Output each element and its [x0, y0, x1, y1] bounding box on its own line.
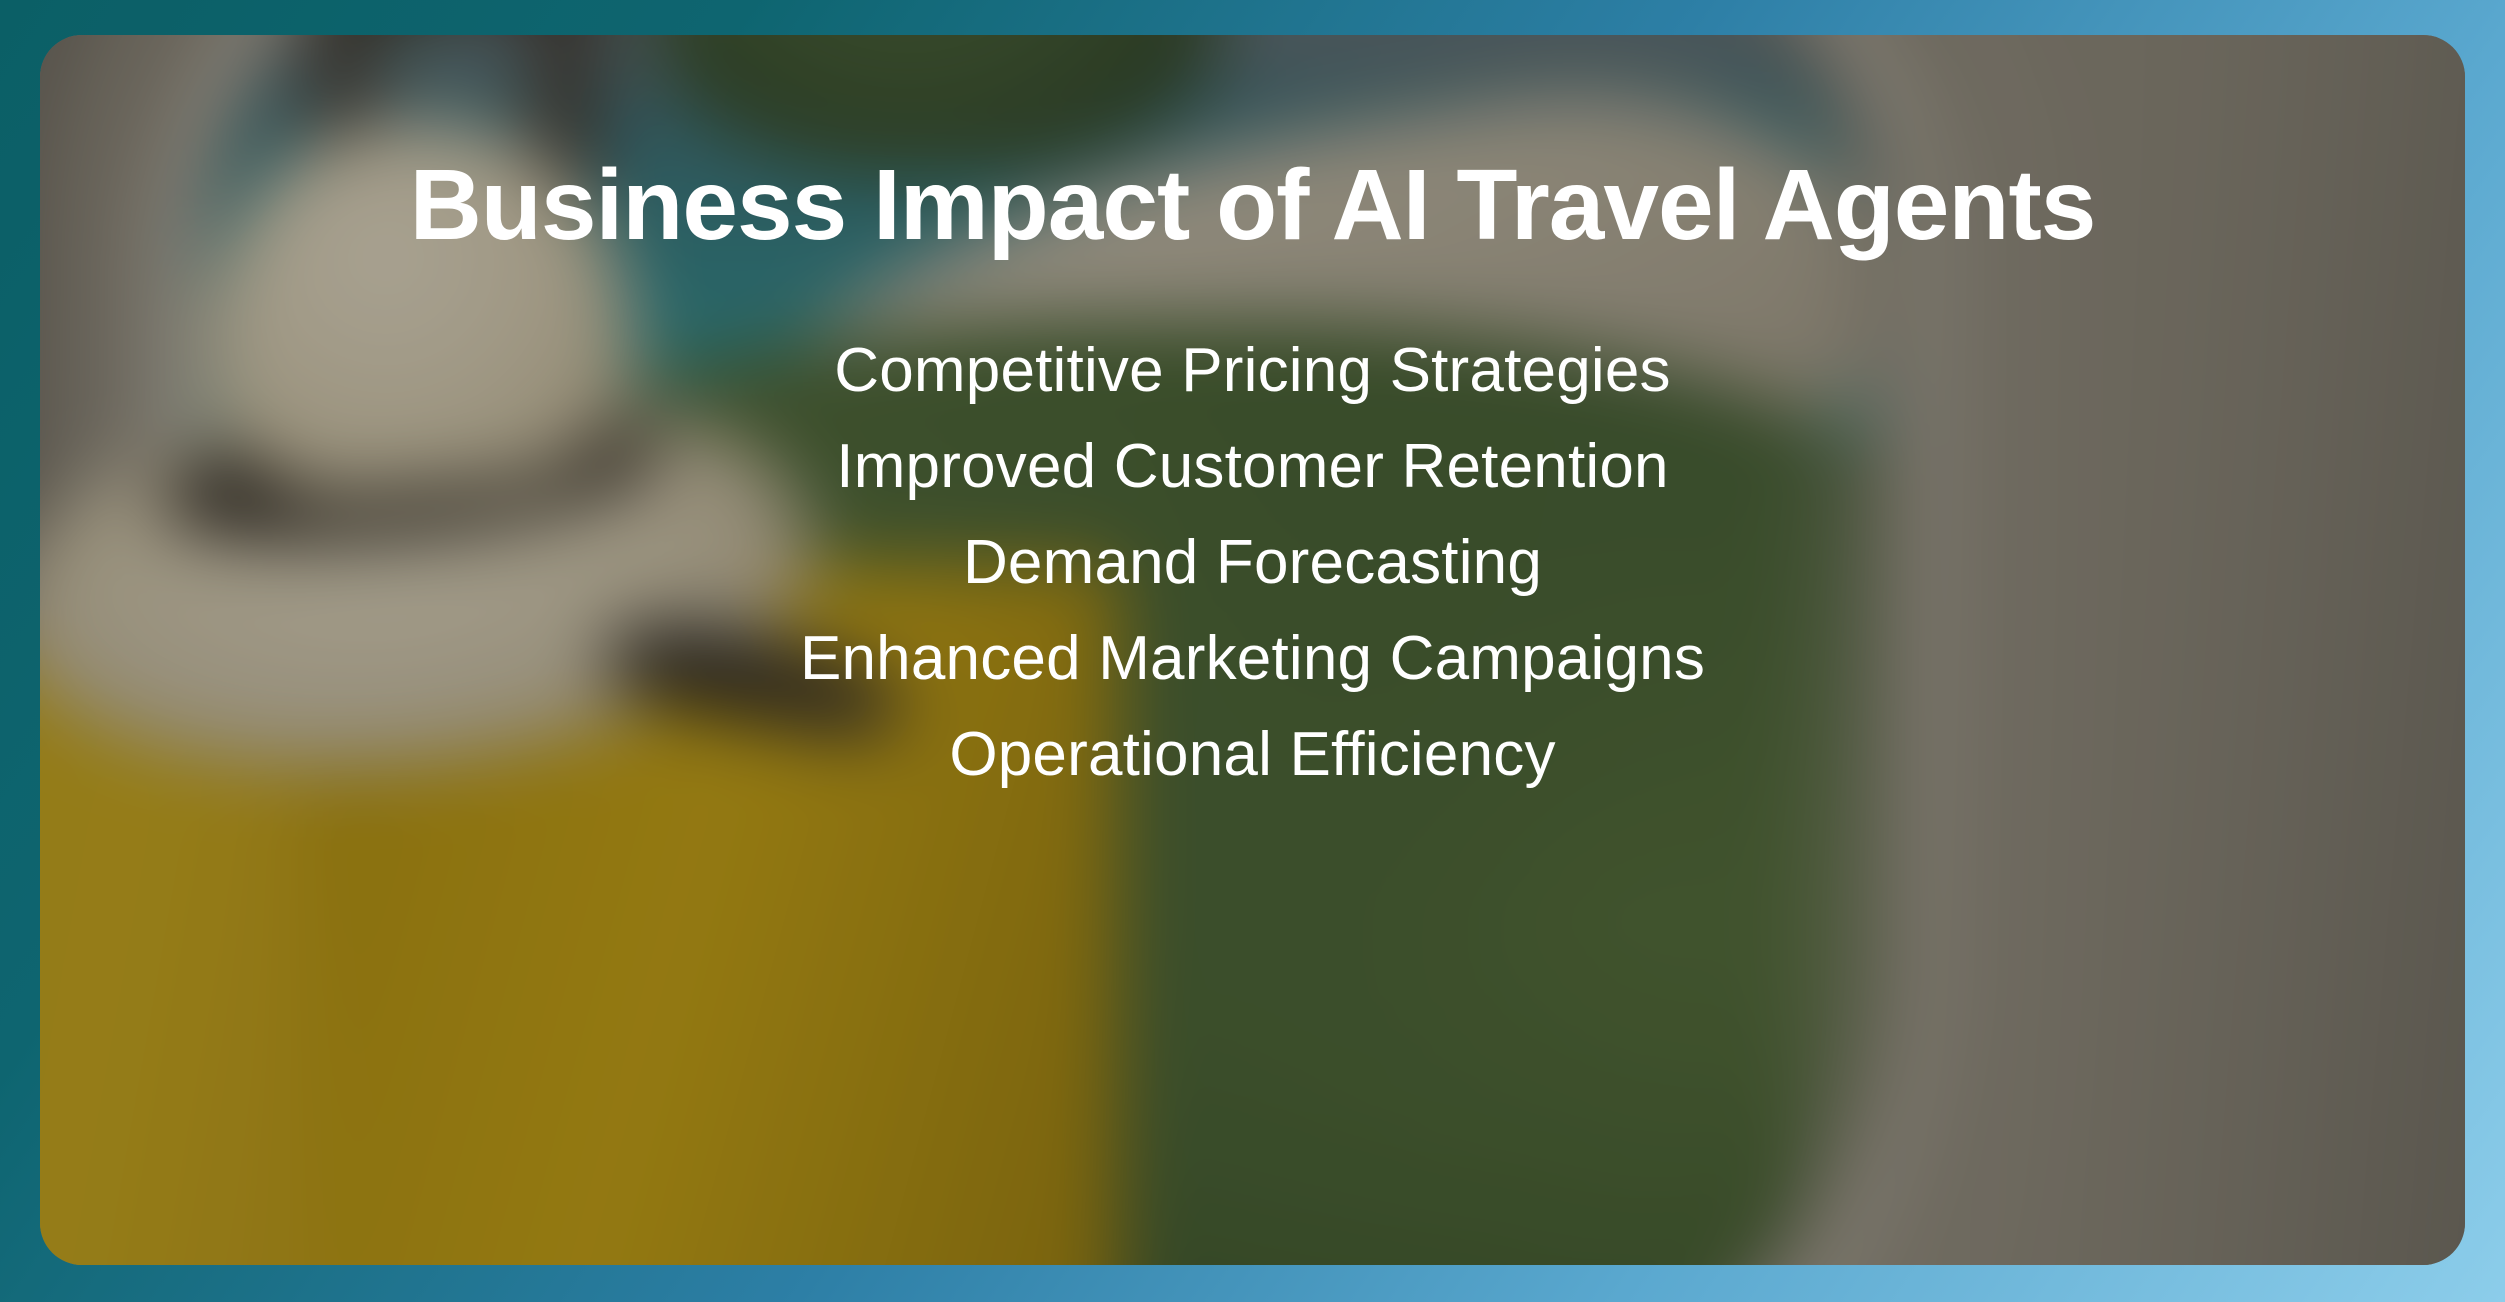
- list-item: Enhanced Marketing Campaigns: [253, 611, 2253, 707]
- list-item: Operational Efficiency: [253, 707, 2253, 803]
- list-item: Competitive Pricing Strategies: [253, 323, 2253, 419]
- bullet-list: Competitive Pricing Strategies Improved …: [253, 323, 2253, 803]
- slide-content: Business Impact of AI Travel Agents Comp…: [40, 35, 2465, 1265]
- slide-card: Business Impact of AI Travel Agents Comp…: [40, 35, 2465, 1265]
- list-item: Improved Customer Retention: [253, 419, 2253, 515]
- slide-title: Business Impact of AI Travel Agents: [403, 147, 2103, 263]
- list-item: Demand Forecasting: [253, 515, 2253, 611]
